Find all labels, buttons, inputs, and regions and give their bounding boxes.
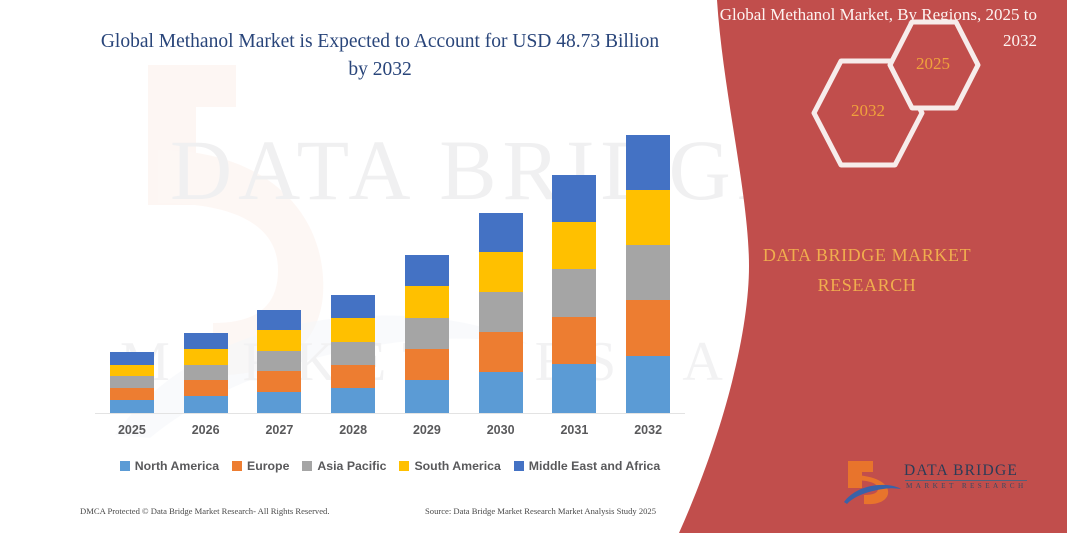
chart-legend: North AmericaEuropeAsia PacificSouth Ame… xyxy=(95,456,685,476)
bar-2029 xyxy=(405,255,449,413)
x-tick-2030: 2030 xyxy=(464,423,538,437)
legend-swatch-icon xyxy=(120,461,130,471)
legend-label: Middle East and Africa xyxy=(529,459,660,473)
x-tick-2025: 2025 xyxy=(95,423,169,437)
bar-segment xyxy=(552,175,596,222)
bar-segment xyxy=(552,364,596,413)
x-tick-2031: 2031 xyxy=(537,423,611,437)
bar-segment xyxy=(405,255,449,286)
footer: DMCA Protected © Data Bridge Market Rese… xyxy=(80,506,680,522)
bar-segment xyxy=(110,365,154,377)
legend-item-europe[interactable]: Europe xyxy=(232,459,289,473)
legend-swatch-icon xyxy=(514,461,524,471)
legend-label: South America xyxy=(414,459,500,473)
bar-segment xyxy=(184,396,228,413)
footer-source: Source: Data Bridge Market Research Mark… xyxy=(425,506,656,516)
x-tick-2027: 2027 xyxy=(242,423,316,437)
bar-segment xyxy=(331,388,375,413)
infographic-root: DATA BRIDGE MARKET RESEARCH Global Metha… xyxy=(0,0,1067,533)
logo-divider xyxy=(905,480,1027,481)
bar-segment xyxy=(110,352,154,365)
bar-2032 xyxy=(626,135,670,413)
bar-segment xyxy=(257,330,301,351)
bar-segment xyxy=(479,332,523,372)
company-logo: DATA BRIDGE MARKET RESEARCH xyxy=(842,458,1032,506)
bar-segment xyxy=(110,376,154,388)
brand-name: DATA BRIDGE MARKET RESEARCH xyxy=(712,240,1022,300)
legend-label: North America xyxy=(135,459,219,473)
legend-swatch-icon xyxy=(302,461,312,471)
x-axis-line xyxy=(95,413,685,414)
legend-swatch-icon xyxy=(399,461,409,471)
bar-2025 xyxy=(110,352,154,413)
legend-item-asia-pacific[interactable]: Asia Pacific xyxy=(302,459,386,473)
x-tick-2028: 2028 xyxy=(316,423,390,437)
bar-segment xyxy=(479,292,523,332)
bar-segment xyxy=(479,252,523,292)
bar-segment xyxy=(184,349,228,365)
bar-segment xyxy=(626,245,670,300)
chart-panel: Global Methanol Market is Expected to Ac… xyxy=(0,0,760,533)
bar-segment xyxy=(405,380,449,413)
bar-segment xyxy=(626,300,670,355)
bar-segment xyxy=(405,349,449,380)
bar-segment xyxy=(552,317,596,364)
bar-segment xyxy=(626,356,670,413)
bar-segment xyxy=(626,135,670,190)
bar-segment xyxy=(479,372,523,413)
bar-segment xyxy=(331,318,375,341)
legend-item-south-america[interactable]: South America xyxy=(399,459,500,473)
logo-subtitle: MARKET RESEARCH xyxy=(906,482,1027,490)
bar-segment xyxy=(626,190,670,245)
bar-segment xyxy=(331,295,375,318)
bar-segment xyxy=(110,400,154,413)
bar-2027 xyxy=(257,310,301,413)
chart-plot-area xyxy=(95,100,685,413)
bar-segment xyxy=(184,380,228,396)
bar-segment xyxy=(479,213,523,252)
hexagon-2025: 2025 xyxy=(883,15,983,115)
bar-2028 xyxy=(331,295,375,413)
logo-mark-icon xyxy=(842,458,902,506)
legend-label: Europe xyxy=(247,459,289,473)
legend-item-north-america[interactable]: North America xyxy=(120,459,219,473)
bar-2026 xyxy=(184,333,228,413)
bar-2030 xyxy=(479,213,523,413)
legend-item-middle-east-and-africa[interactable]: Middle East and Africa xyxy=(514,459,660,473)
bar-segment xyxy=(257,392,301,413)
bar-segment xyxy=(257,351,301,372)
bar-segment xyxy=(257,310,301,331)
chart-title: Global Methanol Market is Expected to Ac… xyxy=(90,28,670,84)
legend-swatch-icon xyxy=(232,461,242,471)
footer-copyright: DMCA Protected © Data Bridge Market Rese… xyxy=(80,506,330,516)
x-axis-tick-labels: 20252026202720282029203020312032 xyxy=(95,420,685,444)
bar-segment xyxy=(331,342,375,365)
branding-panel: Global Methanol Market, By Regions, 2025… xyxy=(667,0,1067,533)
hexagon-2025-label: 2025 xyxy=(883,54,983,74)
x-tick-2026: 2026 xyxy=(169,423,243,437)
bar-segment xyxy=(405,318,449,349)
bar-segment xyxy=(184,365,228,381)
x-tick-2029: 2029 xyxy=(390,423,464,437)
bar-segment xyxy=(257,371,301,392)
bar-segment xyxy=(405,286,449,317)
bar-segment xyxy=(184,333,228,349)
bar-segment xyxy=(552,269,596,316)
bar-segment xyxy=(552,222,596,269)
legend-label: Asia Pacific xyxy=(317,459,386,473)
logo-title: DATA BRIDGE xyxy=(904,462,1018,480)
bar-segment xyxy=(331,365,375,388)
bar-segment xyxy=(110,388,154,400)
branding-title: Global Methanol Market, By Regions, 2025… xyxy=(707,2,1037,54)
bar-2031 xyxy=(552,175,596,413)
